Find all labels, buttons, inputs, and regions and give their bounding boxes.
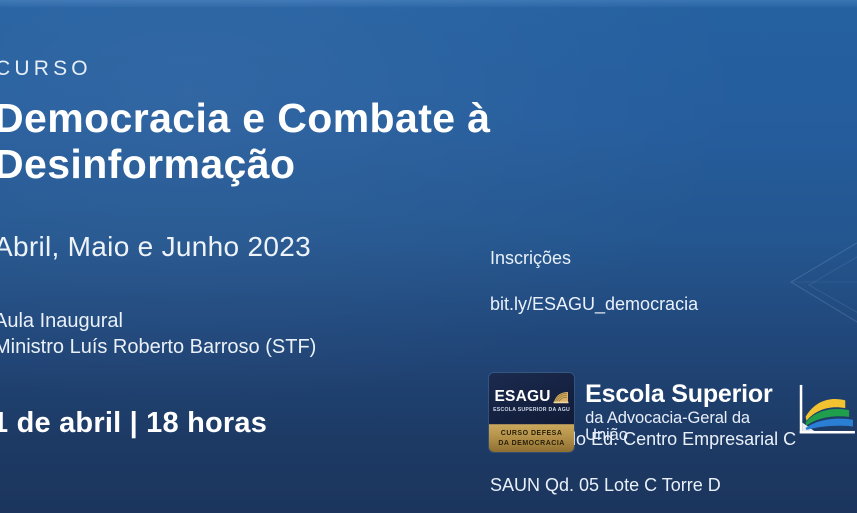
inaugural-lecture-info: Aula Inaugural Ministro Luís Roberto Bar… — [0, 308, 316, 360]
escola-superior-text: Escola Superior da Advocacia-Geral da Un… — [585, 382, 790, 443]
page-title: Democracia e Combate à Desinformação — [0, 95, 614, 187]
esagu-wordmark: ESAGU — [495, 389, 551, 405]
registration-block: Inscrições bit.ly/ESAGU_democracia — [490, 224, 857, 339]
course-banner: CURSO Democracia e Combate à Desinformaç… — [0, 0, 857, 513]
logo-strip: ESAGU ESCOLA SUPERIOR DA AGU CURSO DEFES… — [489, 373, 857, 452]
registration-link[interactable]: bit.ly/ESAGU_democracia — [490, 293, 857, 316]
badge-upper-panel: ESAGU ESCOLA SUPERIOR DA AGU — [489, 373, 574, 424]
book-fan-icon — [553, 391, 569, 404]
badge-subtitle: ESCOLA SUPERIOR DA AGU — [493, 407, 570, 413]
top-edge-strip — [0, 0, 857, 7]
course-months: Abril, Maio e Junho 2023 — [0, 232, 311, 263]
agu-emblem-icon — [793, 383, 857, 442]
escola-superior-line-1: Escola Superior — [585, 382, 790, 407]
details-column: Inscrições bit.ly/ESAGU_democracia Local… — [490, 224, 857, 513]
event-date-time: 1 de abril | 18 horas — [0, 408, 267, 440]
registration-label: Inscrições — [490, 247, 857, 270]
headline-group: CURSO Democracia e Combate à Desinformaç… — [0, 58, 614, 187]
eyebrow-label: CURSO — [0, 58, 614, 79]
venue-address-line-2: SAUN Qd. 05 Lote C Torre D — [490, 474, 857, 497]
badge-ribbon-line-1: CURSO DEFESA — [501, 429, 563, 439]
badge-gold-ribbon: CURSO DEFESA DA DEMOCRACIA — [489, 424, 574, 452]
badge-ribbon-line-2: DA DEMOCRACIA — [498, 439, 565, 449]
esagu-course-badge: ESAGU ESCOLA SUPERIOR DA AGU CURSO DEFES… — [489, 373, 574, 452]
escola-superior-line-2: da Advocacia-Geral da União — [585, 410, 790, 443]
badge-wordmark-row: ESAGU — [495, 389, 569, 405]
escola-superior-logo: Escola Superior da Advocacia-Geral da Un… — [585, 382, 857, 443]
